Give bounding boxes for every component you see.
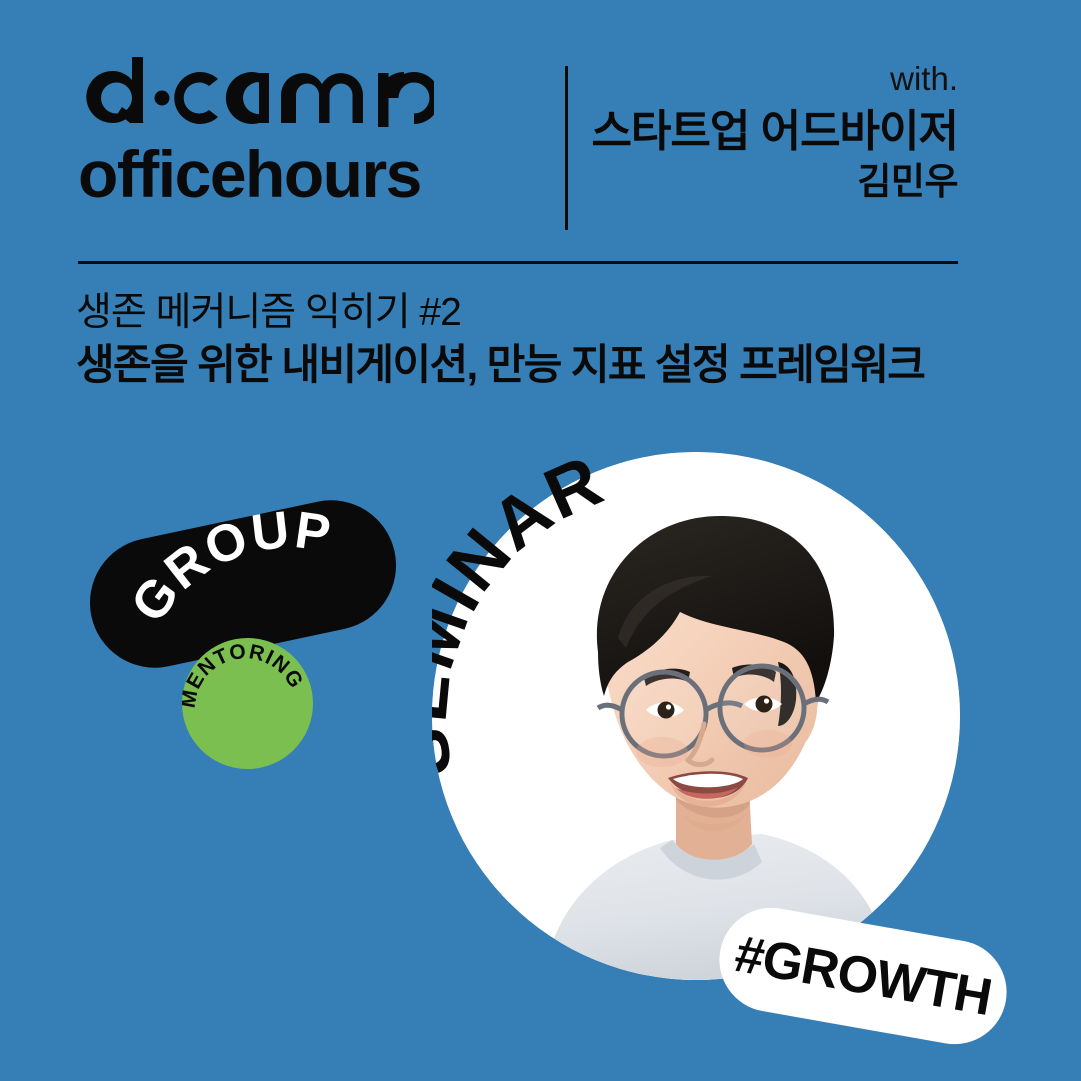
subtitle-block: 생존 메커니즘 익히기 #2 생존을 위한 내비게이션, 만능 지표 설정 프레… <box>76 291 1056 388</box>
advisor-block: with. 스타트업 어드바이저 김민우 <box>518 62 958 200</box>
svg-text:GROUP: GROUP <box>107 488 355 641</box>
mentoring-badge-text: MENTORING <box>182 640 308 710</box>
advisor-photo-circle <box>432 452 960 980</box>
group-badge-text: GROUP <box>107 488 355 641</box>
growth-badge-text: #GROWTH <box>731 928 995 1024</box>
officehours-title: officehours <box>78 141 548 207</box>
growth-badge: #GROWTH <box>711 900 1015 1053</box>
advisor-role: 스타트업 어드바이저 <box>518 109 958 155</box>
poster-canvas: officehours with. 스타트업 어드바이저 김민우 생존 메커니즘… <box>0 0 1081 1081</box>
svg-text:MENTORING: MENTORING <box>182 640 308 710</box>
series-label: 생존 메커니즘 익히기 #2 <box>76 291 1056 335</box>
advisor-name: 김민우 <box>518 163 958 200</box>
header-horizontal-divider <box>78 261 958 264</box>
with-label: with. <box>518 62 958 95</box>
brand-logo-block: officehours <box>78 55 548 207</box>
advisor-portrait <box>432 452 960 980</box>
mentoring-badge: MENTORING <box>182 638 313 769</box>
dcamp-wordmark <box>78 55 548 127</box>
session-title: 생존을 위한 내비게이션, 만능 지표 설정 프레임워크 <box>76 341 1056 388</box>
